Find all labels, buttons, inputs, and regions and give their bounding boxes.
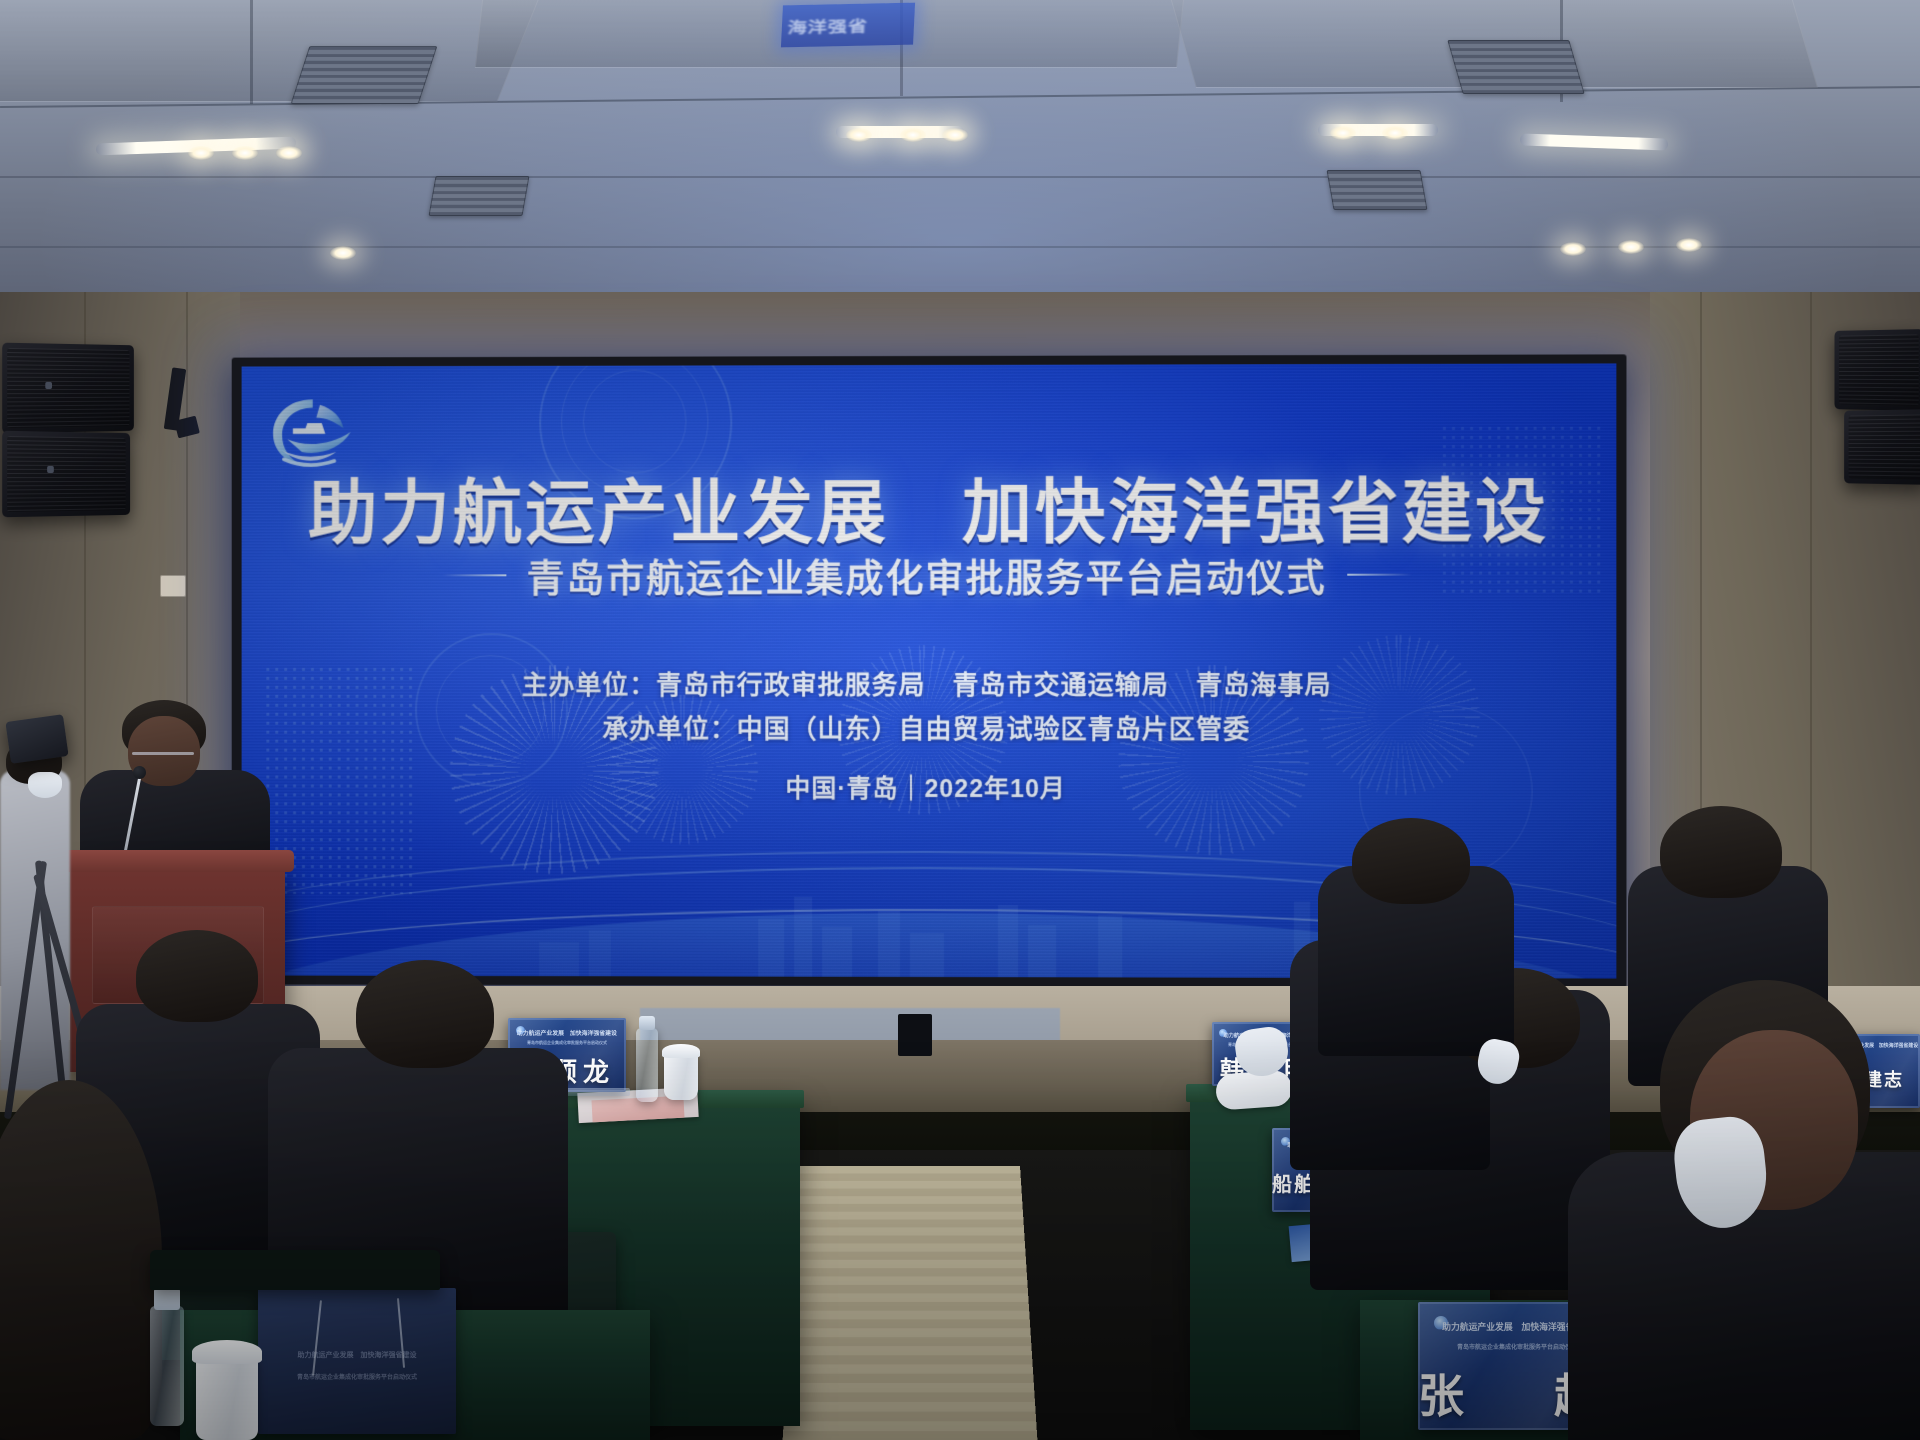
downlight (1330, 126, 1356, 140)
ceiling-reflection-text: 海洋强省 (787, 13, 908, 37)
ceiling-seam (250, 0, 253, 104)
tea-cup (196, 1356, 258, 1440)
placard-header: 助力航运产业发展 加快海洋强省建设 (516, 1028, 618, 1037)
downlight (942, 128, 968, 142)
chair-back (150, 1250, 440, 1290)
downlight (1382, 126, 1408, 140)
ceiling-seam (0, 176, 1920, 178)
air-vent (1326, 170, 1427, 210)
audience-hair (1352, 818, 1470, 904)
audience-hair (136, 930, 258, 1022)
face-mask-on-table (1215, 1069, 1293, 1110)
ceiling-panel (0, 0, 547, 102)
tote-bag-line1: 助力航运产业发展 加快海洋强省建设 (274, 1350, 440, 1360)
bottle-cap (639, 1016, 655, 1030)
audience-hair (356, 960, 494, 1068)
tote-bag-line2: 青岛市航运企业集成化审批服务平台启动仪式 (274, 1372, 440, 1381)
stage-rear-opening (898, 1014, 932, 1056)
air-vent (428, 176, 529, 216)
tea-cup-lid (192, 1340, 262, 1364)
ceiling: 海洋强省 (0, 0, 1920, 300)
downlight (1676, 238, 1702, 252)
speaker-grille (7, 348, 129, 428)
downlight (1560, 242, 1586, 256)
event-tote-bag: 助力航运产业发展 加快海洋强省建设 青岛市航运企业集成化审批服务平台启动仪式 (258, 1288, 456, 1434)
air-vent (291, 46, 438, 104)
wall-socket[interactable] (160, 575, 186, 597)
speaker-grille (1849, 414, 1920, 479)
video-camera (5, 714, 68, 764)
subtitle-rule-left (443, 574, 507, 576)
screen-place-date: 中国·青岛｜2022年10月 (242, 769, 1617, 806)
screen-subtitle-row: 青岛市航运企业集成化审批服务平台启动仪式 (242, 546, 1617, 602)
subtitle-rule-right (1347, 573, 1411, 575)
camera-operator-mask (28, 772, 62, 798)
conference-hall-photo: 海洋强省 (0, 0, 1920, 1440)
water-bottle (636, 1028, 658, 1102)
bottle-cap (154, 1288, 180, 1310)
screen-host-line: 主办单位：青岛市行政审批服务局 青岛市交通运输局 青岛海事局 (242, 665, 1617, 702)
screen-main-title: 助力航运产业发展 加快海洋强省建设 (242, 456, 1617, 559)
screen-organizer-line: 承办单位：中国（山东）自由贸易试验区青岛片区管委 (242, 709, 1617, 747)
speaker-led (45, 382, 52, 389)
screen-subtitle: 青岛市航运企业集成化审批服务平台启动仪式 (527, 547, 1327, 603)
tea-cup (664, 1052, 698, 1100)
presenter-glasses (132, 752, 194, 755)
left-speaker-lower (2, 431, 130, 518)
downlight (846, 128, 872, 142)
water-bottle (150, 1306, 184, 1426)
downlight (276, 146, 302, 160)
lectern-top (61, 850, 294, 872)
downlight (188, 146, 214, 160)
downlight (330, 246, 356, 260)
center-aisle (781, 1166, 1040, 1440)
microphone-head (133, 766, 146, 779)
downlight (1618, 240, 1644, 254)
right-speaker-upper (1834, 329, 1920, 411)
downlight (900, 128, 926, 142)
speaker-grille (7, 436, 125, 512)
screen-reflection-on-ceiling: 海洋强省 (781, 3, 915, 48)
air-vent (1447, 40, 1584, 94)
speaker-grille (1839, 334, 1919, 405)
left-speaker-upper (2, 343, 134, 434)
speaker-led (47, 466, 54, 473)
right-speaker-lower (1844, 409, 1920, 485)
downlight (232, 146, 258, 160)
placard-subheader: 青岛市航运企业集成化审批服务平台启动仪式 (515, 1040, 619, 1046)
audience-hair (1660, 806, 1782, 898)
tea-cup-lid (662, 1044, 700, 1058)
